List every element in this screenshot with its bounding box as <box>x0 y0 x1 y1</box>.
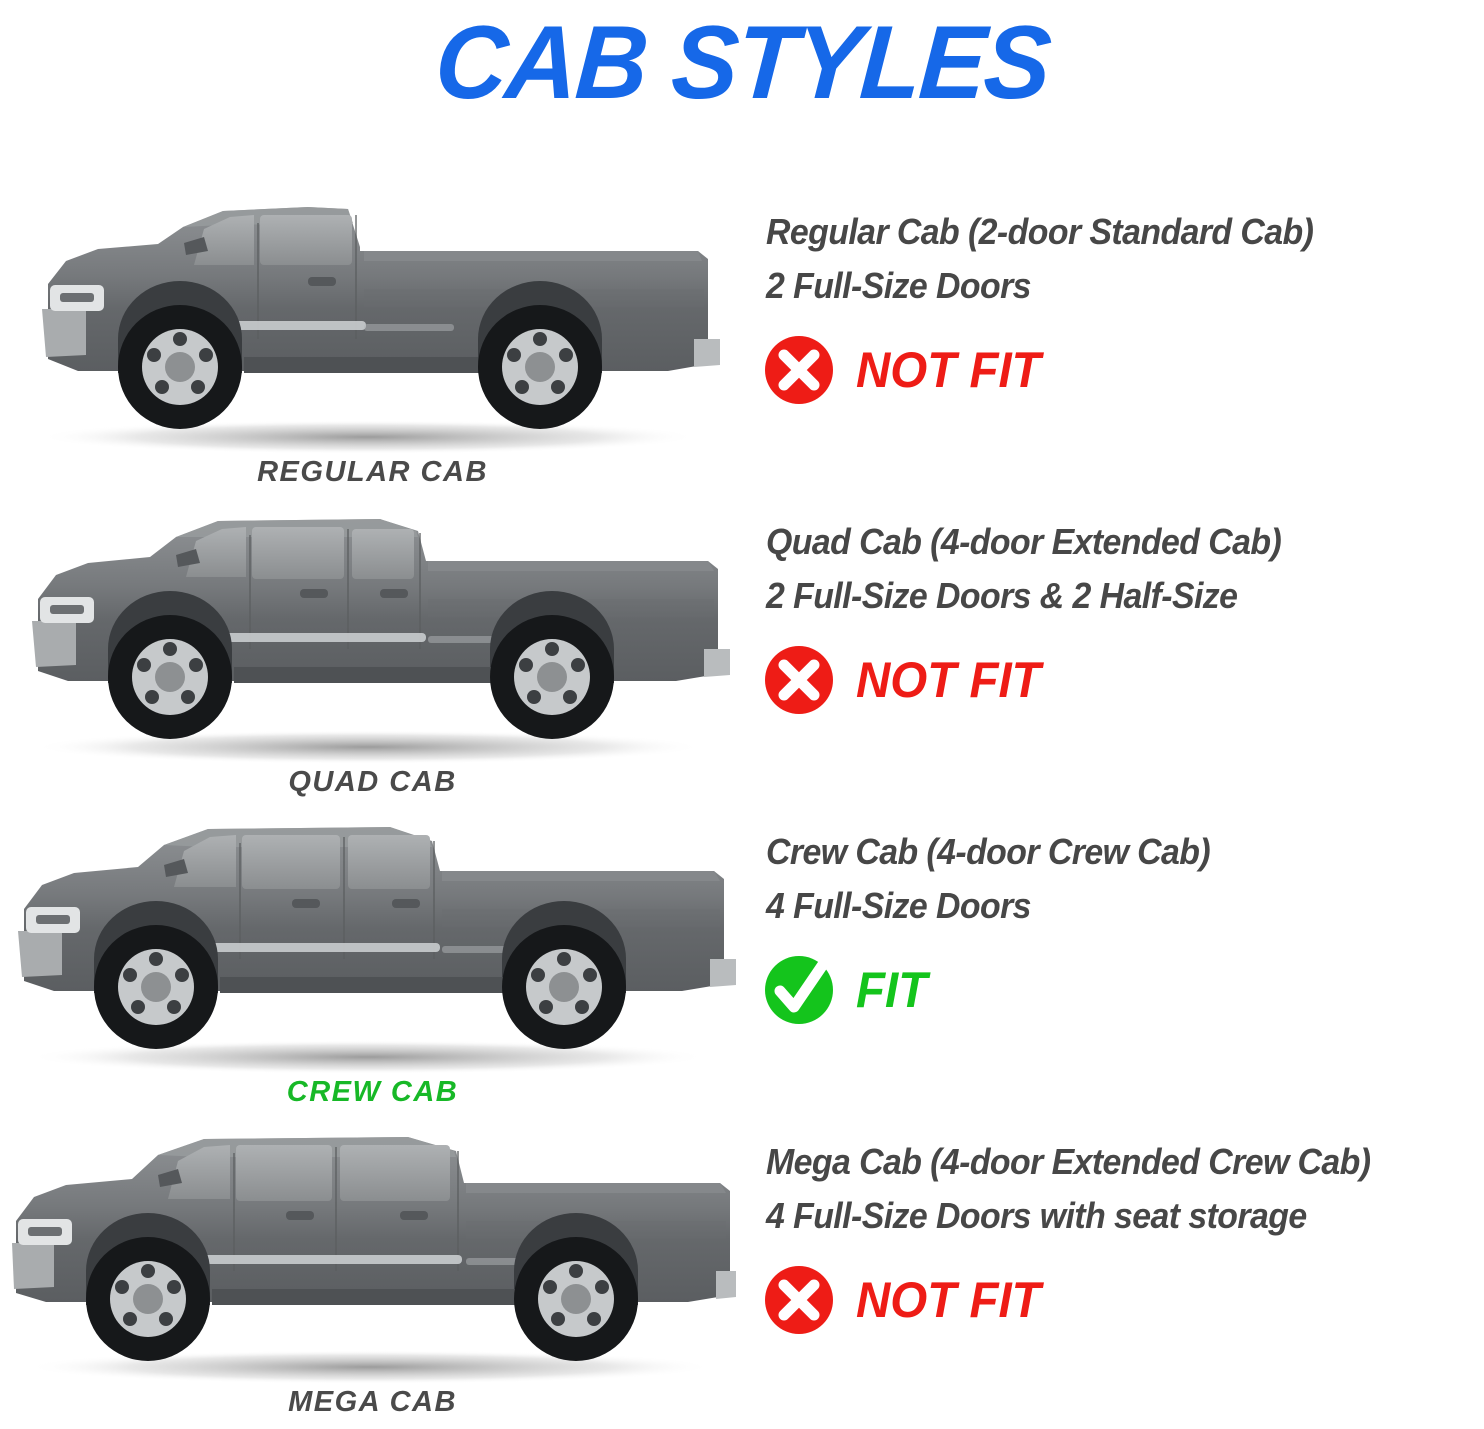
title-bar: CAB STYLES <box>0 0 1484 125</box>
truck-image-regular-cab: REGULAR CAB <box>0 185 745 495</box>
cab-info-quad: Quad Cab (4-door Extended Cab) 2 Full-Si… <box>748 495 1484 805</box>
verdict-label: FIT <box>856 965 927 1015</box>
cab-doors-line: 2 Full-Size Doors & 2 Half-Size <box>766 575 1237 617</box>
check-circle-icon <box>762 953 836 1027</box>
truck-shadow <box>28 1040 708 1074</box>
cab-info-mega: Mega Cab (4-door Extended Crew Cab) 4 Fu… <box>748 1115 1484 1425</box>
rear-door-glass <box>348 835 430 889</box>
truck-illustration <box>8 499 738 771</box>
cab-caption: QUAD CAB <box>0 766 745 799</box>
front-wheel <box>108 615 232 739</box>
rear-wheel <box>490 615 614 739</box>
truck-illustration <box>8 189 738 461</box>
cab-style-row-crew: CREW CAB Crew Cab (4-door Crew Cab) 4 Fu… <box>0 805 1484 1115</box>
cab-info-crew: Crew Cab (4-door Crew Cab) 4 Full-Size D… <box>748 805 1484 1115</box>
verdict-label: NOT FIT <box>856 655 1041 705</box>
x-circle-icon <box>762 333 836 407</box>
cab-style-row-mega: MEGA CAB Mega Cab (4-door Extended Crew … <box>0 1115 1484 1425</box>
truck-shadow <box>38 420 698 454</box>
cab-style-row-regular: REGULAR CAB Regular Cab (2-door Standard… <box>0 185 1484 495</box>
truck-illustration <box>8 1119 738 1391</box>
cab-doors-line: 4 Full-Size Doors with seat storage <box>766 1195 1307 1237</box>
cab-title-line: Mega Cab (4-door Extended Crew Cab) <box>766 1141 1371 1183</box>
truck-image-crew-cab: CREW CAB <box>0 805 745 1115</box>
rear-wheel <box>514 1237 638 1361</box>
cab-doors-line: 4 Full-Size Doors <box>766 885 1031 927</box>
front-wheel <box>86 1237 210 1361</box>
cab-title-line: Quad Cab (4-door Extended Cab) <box>766 521 1281 563</box>
rear-quarter-glass <box>352 529 414 579</box>
rear-wheel <box>502 925 626 1049</box>
truck-image-quad-cab: QUAD CAB <box>0 495 745 805</box>
rear-wheel <box>478 305 602 429</box>
cab-style-row-quad: QUAD CAB Quad Cab (4-door Extended Cab) … <box>0 495 1484 805</box>
truck-shadow <box>33 730 703 764</box>
page-title: CAB STYLES <box>432 11 1052 115</box>
fitment-verdict: NOT FIT <box>762 1263 1050 1337</box>
truck-illustration <box>8 809 738 1081</box>
rear-door-glass-extended <box>340 1145 450 1201</box>
x-circle-icon <box>762 1263 836 1337</box>
fitment-verdict: NOT FIT <box>762 333 1050 407</box>
front-wheel <box>94 925 218 1049</box>
cab-caption: REGULAR CAB <box>0 456 745 489</box>
cab-caption: MEGA CAB <box>0 1386 745 1419</box>
fitment-verdict: NOT FIT <box>762 643 1050 717</box>
front-wheel <box>118 305 242 429</box>
truck-image-mega-cab: MEGA CAB <box>0 1115 745 1425</box>
fitment-verdict: FIT <box>762 953 931 1027</box>
verdict-label: NOT FIT <box>856 1275 1041 1325</box>
cab-title-line: Regular Cab (2-door Standard Cab) <box>766 211 1313 253</box>
cab-caption: CREW CAB <box>0 1076 745 1109</box>
cab-info-regular: Regular Cab (2-door Standard Cab) 2 Full… <box>748 185 1484 495</box>
cab-doors-line: 2 Full-Size Doors <box>766 265 1031 307</box>
x-circle-icon <box>762 643 836 717</box>
verdict-label: NOT FIT <box>856 345 1041 395</box>
cab-title-line: Crew Cab (4-door Crew Cab) <box>766 831 1210 873</box>
